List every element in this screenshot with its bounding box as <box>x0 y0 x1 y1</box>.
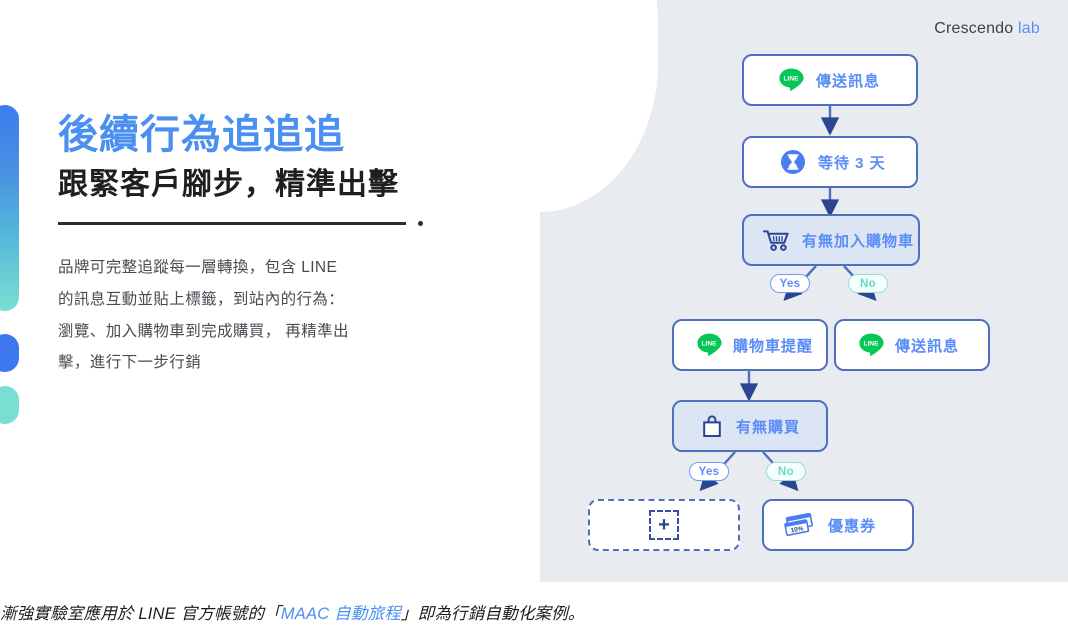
flowchart-panel: Crescendo lab <box>540 0 1068 582</box>
flow-node-label: 有無加入購物車 <box>802 230 914 251</box>
caption-suffix: 」即為行銷自動化案例。 <box>401 605 585 623</box>
flow-node-label: 優惠券 <box>828 515 876 536</box>
flow-node-label: 傳送訊息 <box>816 70 880 91</box>
svg-text:LINE: LINE <box>701 341 717 348</box>
flow-node-coupon[interactable]: 10% 10% 優惠券 <box>762 499 914 551</box>
branch-badge-no: No <box>766 462 806 481</box>
shopping-bag-icon <box>700 412 724 440</box>
decor-gradient-bar <box>0 105 19 311</box>
decor-dot-teal <box>0 386 19 424</box>
flow-node-wait-3-days[interactable]: 等待 3 天 <box>742 136 918 188</box>
flow-node-label: 傳送訊息 <box>895 335 959 356</box>
plus-icon: + <box>649 510 679 540</box>
line-logo-icon: LINE <box>858 332 884 358</box>
divider-dot <box>418 221 423 226</box>
flow-node-cart-reminder[interactable]: LINE 購物車提醒 <box>672 319 828 371</box>
decor-dot-blue <box>0 334 19 372</box>
line-logo-icon: LINE <box>778 67 804 93</box>
branch-badge-yes: Yes <box>689 462 729 481</box>
flow-node-label: 購物車提醒 <box>733 335 813 356</box>
branch-badge-yes: Yes <box>770 274 810 293</box>
branch-badge-no: No <box>848 274 888 293</box>
text-column: 後續行為追追追 跟緊客戶腳步，精準出擊 品牌可完整追蹤每一層轉換，包含 LINE… <box>58 112 478 379</box>
line-logo-icon: LINE <box>696 332 722 358</box>
journey-flowchart: LINE 傳送訊息 等待 3 天 <box>540 0 1068 582</box>
flow-node-send-message-2[interactable]: LINE 傳送訊息 <box>834 319 990 371</box>
brand-logo: Crescendo lab <box>934 20 1040 38</box>
body-line: 瀏覽、加入購物車到完成購買， 再精準出 <box>58 316 408 348</box>
hourglass-icon <box>780 149 806 175</box>
caption-prefix: 漸強實驗室應用於 LINE 官方帳號的「 <box>0 605 281 623</box>
coupon-icon: 10% 10% <box>784 511 818 539</box>
caption: 漸強實驗室應用於 LINE 官方帳號的「MAAC 自動旅程」即為行銷自動化案例。 <box>0 600 1068 624</box>
page-subtitle: 跟緊客戶腳步，精準出擊 <box>58 167 478 203</box>
flow-node-label: 等待 3 天 <box>818 152 886 173</box>
brand-name-secondary: lab <box>1018 20 1040 37</box>
caption-highlight: MAAC 自動旅程 <box>281 605 401 623</box>
flow-node-send-message-1[interactable]: LINE 傳送訊息 <box>742 54 918 106</box>
svg-text:LINE: LINE <box>863 341 879 348</box>
flow-node-add-step[interactable]: + <box>588 499 740 551</box>
svg-text:LINE: LINE <box>783 76 799 83</box>
shopping-cart-icon <box>762 227 792 253</box>
flow-node-added-to-cart[interactable]: 有無加入購物車 <box>742 214 920 266</box>
divider <box>58 221 478 226</box>
slide-root: 後續行為追追追 跟緊客戶腳步，精準出擊 品牌可完整追蹤每一層轉換，包含 LINE… <box>0 0 1068 634</box>
body-line: 的訊息互動並貼上標籤，到站內的行為： <box>58 284 408 316</box>
body-line: 擊，進行下一步行銷 <box>58 347 408 379</box>
page-title: 後續行為追追追 <box>58 112 478 159</box>
flow-node-purchased[interactable]: 有無購買 <box>672 400 828 452</box>
flow-node-label: 有無購買 <box>736 416 800 437</box>
body-line: 品牌可完整追蹤每一層轉換，包含 LINE <box>58 252 408 284</box>
brand-name-primary: Crescendo <box>934 20 1013 37</box>
body-paragraph: 品牌可完整追蹤每一層轉換，包含 LINE 的訊息互動並貼上標籤，到站內的行為： … <box>58 252 408 379</box>
divider-line <box>58 222 406 225</box>
